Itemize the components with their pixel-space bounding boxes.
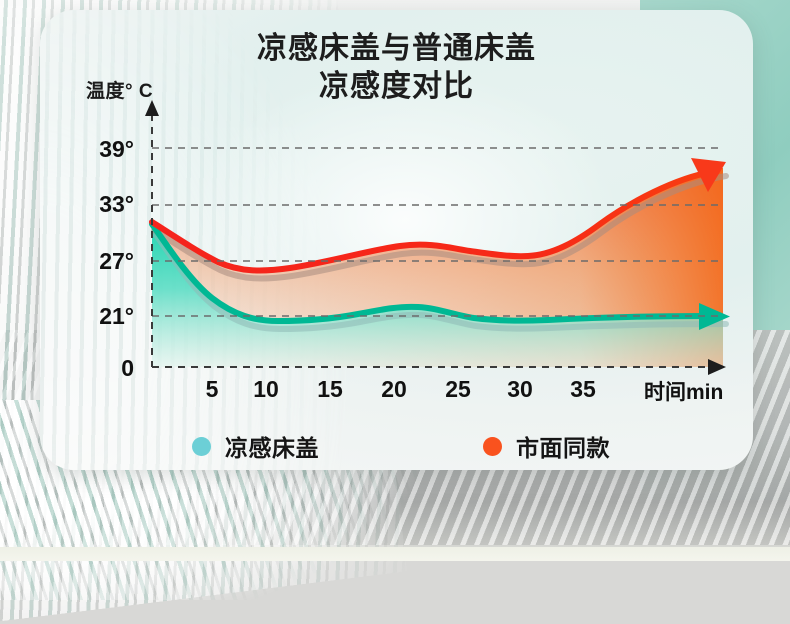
- legend-dot-cool: [192, 437, 211, 456]
- plot-svg: [40, 10, 753, 470]
- chart: 温度° C 39° 33° 27° 21° 0 5 10 15 20 25 30…: [40, 10, 753, 470]
- background-bottom-band: [0, 547, 790, 561]
- legend-item-cool[interactable]: 凉感床盖: [192, 429, 319, 463]
- screenshot-root: 凉感床盖与普通床盖 凉感度对比 温度° C 39° 33° 27° 21° 0 …: [0, 0, 790, 561]
- legend-label-cool: 凉感床盖: [225, 429, 319, 463]
- chart-card: 凉感床盖与普通床盖 凉感度对比 温度° C 39° 33° 27° 21° 0 …: [40, 10, 753, 470]
- legend-item-normal[interactable]: 市面同款: [483, 429, 610, 463]
- chart-legend: 凉感床盖 市面同款: [40, 425, 753, 465]
- legend-label-normal: 市面同款: [516, 429, 610, 463]
- legend-dot-normal: [483, 437, 502, 456]
- y-axis-arrow: [145, 100, 159, 116]
